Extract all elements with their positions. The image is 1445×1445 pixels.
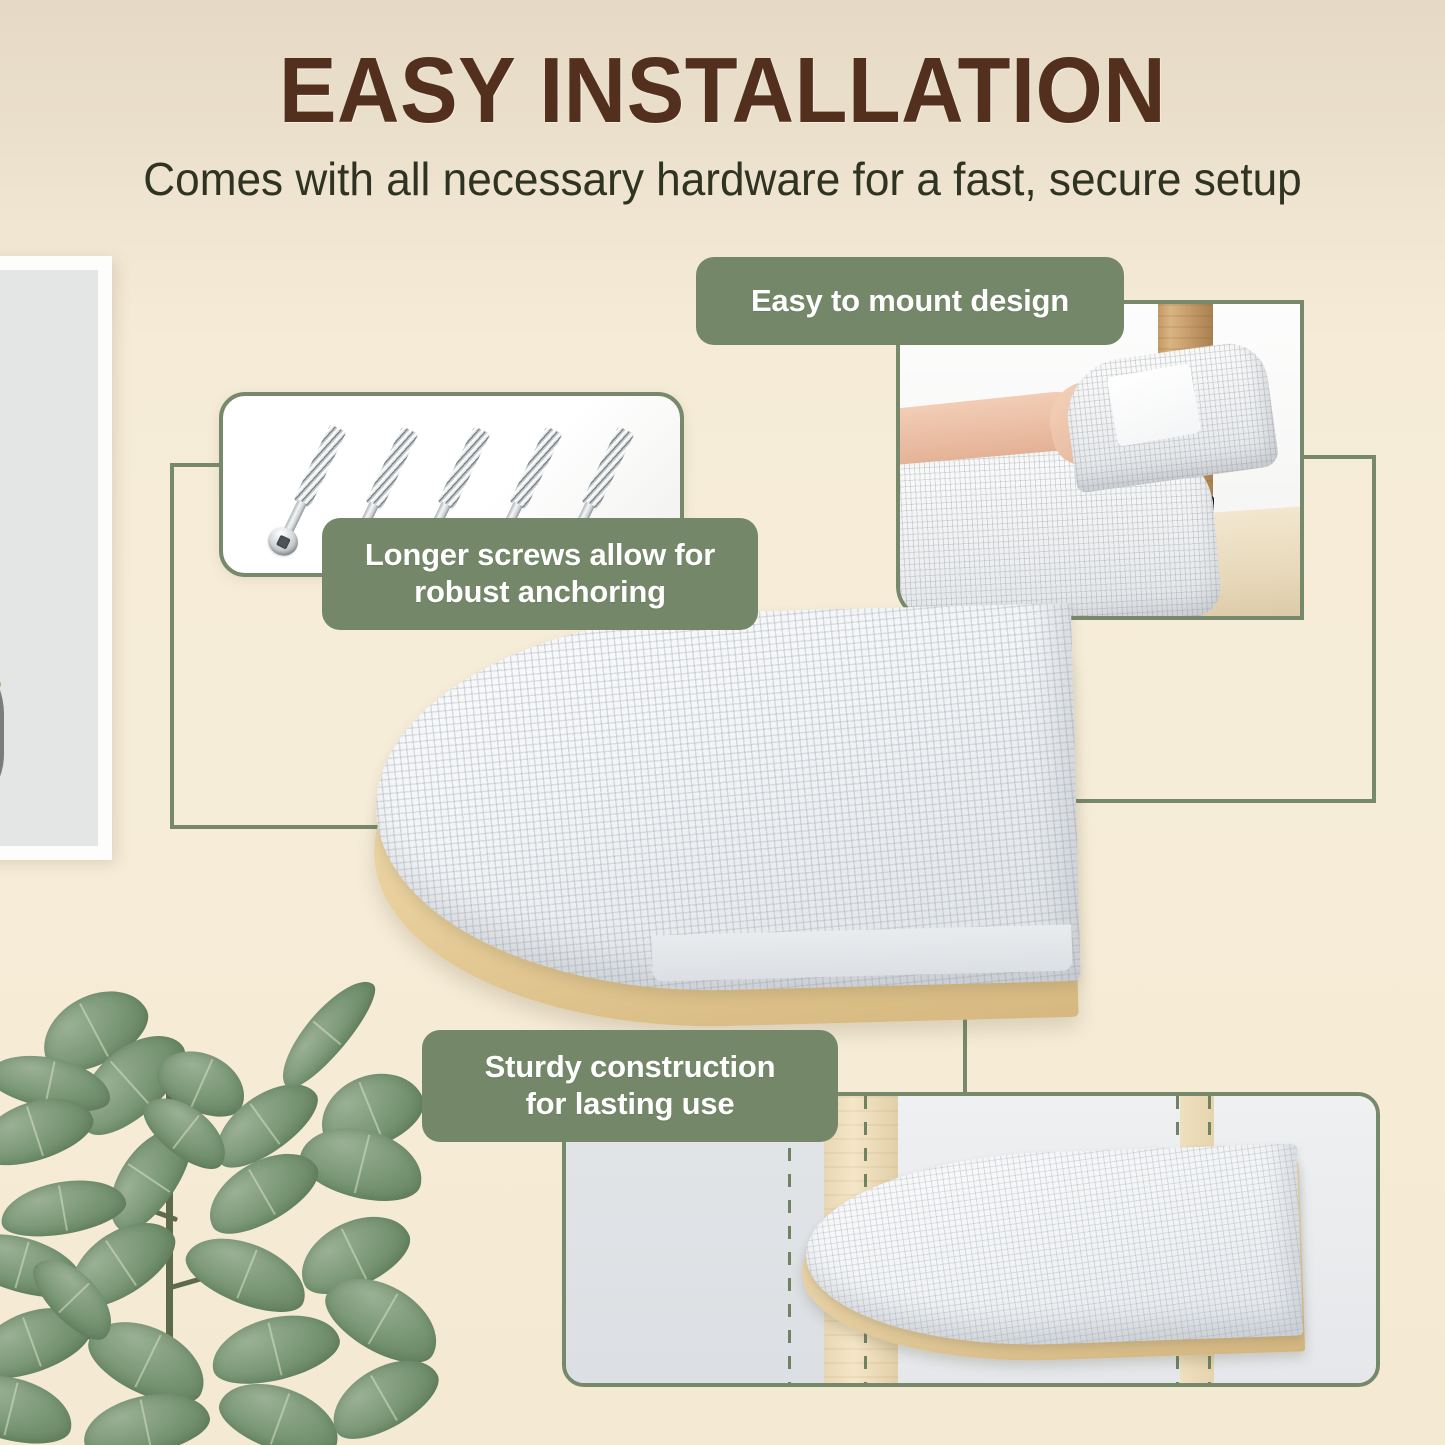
callout-label-line-1: Sturdy construction bbox=[485, 1049, 776, 1086]
rubber-plant bbox=[0, 992, 440, 1445]
infographic-canvas: EASY INSTALLATION Comes with all necessa… bbox=[0, 0, 1445, 1445]
screw-thread bbox=[509, 426, 562, 509]
art-grey-shape bbox=[0, 640, 4, 820]
callout-longer-screws[interactable]: Longer screws allow for robust anchoring bbox=[322, 518, 758, 630]
connector-line-right-bottom bbox=[1060, 799, 1376, 803]
callout-easy-to-mount[interactable]: Easy to mount design bbox=[696, 257, 1124, 345]
callout-sturdy-construction[interactable]: Sturdy construction for lasting use bbox=[422, 1030, 838, 1142]
screw-thread bbox=[293, 424, 346, 507]
connector-line-right-top bbox=[1300, 455, 1376, 459]
screw-thread bbox=[437, 426, 490, 509]
plant-leaf bbox=[177, 1223, 316, 1326]
corner-shelf-cushion bbox=[803, 1143, 1303, 1352]
header: EASY INSTALLATION Comes with all necessa… bbox=[0, 0, 1445, 202]
callout-label-line-2: for lasting use bbox=[526, 1086, 735, 1123]
plant-leaf bbox=[204, 1303, 345, 1395]
connector-line-left-vertical bbox=[170, 463, 174, 829]
callout-label-line-1: Longer screws allow for bbox=[365, 537, 715, 574]
callout-label-line-2: robust anchoring bbox=[414, 574, 666, 611]
screw-thread bbox=[581, 426, 634, 509]
page-title: EASY INSTALLATION bbox=[51, 0, 1395, 134]
easy-mount-photo bbox=[896, 300, 1304, 620]
page-subtitle: Comes with all necessary hardware for a … bbox=[29, 134, 1416, 202]
mount-photo-cover-tag bbox=[1107, 363, 1202, 447]
screw-thread bbox=[365, 426, 418, 509]
framed-abstract-wall-art bbox=[0, 256, 112, 860]
quarter-round-wall-shelf bbox=[352, 612, 1082, 1032]
connector-line-left-top bbox=[170, 463, 224, 467]
callout-label: Easy to mount design bbox=[751, 283, 1069, 320]
screw-head bbox=[264, 522, 303, 560]
art-mat bbox=[0, 270, 98, 846]
connector-line-right-vertical bbox=[1372, 455, 1376, 803]
corner-photo-shelf bbox=[802, 1152, 1302, 1364]
